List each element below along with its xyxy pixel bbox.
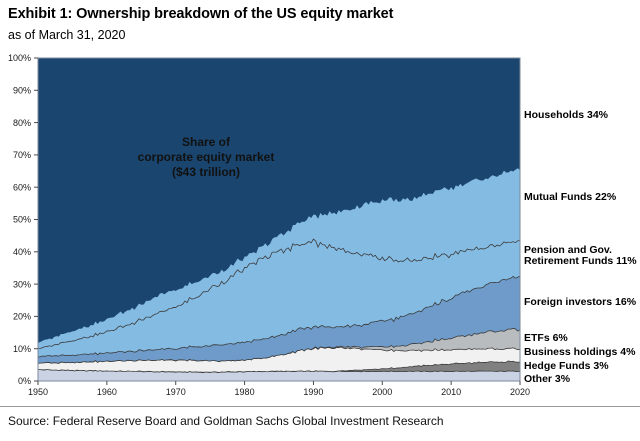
x-tick-label: 2000 <box>372 387 392 397</box>
series-label-pension-line2: Retirement Funds 11% <box>524 256 637 268</box>
source-note: Source: Federal Reserve Board and Goldma… <box>8 414 444 428</box>
series-label-etfs: ETFs 6% <box>524 333 568 345</box>
y-tick-label: 0% <box>18 376 31 386</box>
y-tick-label: 80% <box>13 118 31 128</box>
series-label-business-holdings: Business holdings 4% <box>524 347 635 359</box>
series-label-hedge-funds: Hedge Funds 3% <box>524 361 609 373</box>
x-tick-label: 2020 <box>510 387 530 397</box>
page-subtitle: as of March 31, 2020 <box>8 28 125 42</box>
y-tick-label: 20% <box>13 312 31 322</box>
y-tick-label: 70% <box>13 150 31 160</box>
annotation-line-3: ($43 trillion) <box>96 165 316 180</box>
stacked-area-chart: 0%10%20%30%40%50%60%70%80%90%100%1950196… <box>0 48 640 400</box>
y-tick-label: 30% <box>13 279 31 289</box>
page-title: Exhibit 1: Ownership breakdown of the US… <box>8 6 393 22</box>
series-label-households: Households 34% <box>524 110 608 122</box>
footer-divider <box>0 406 640 407</box>
chart-page: Exhibit 1: Ownership breakdown of the US… <box>0 0 640 441</box>
x-tick-label: 1970 <box>166 387 186 397</box>
x-tick-label: 2010 <box>441 387 461 397</box>
annotation-line-2: corporate equity market <box>96 150 316 165</box>
series-label-other: Other 3% <box>524 374 570 386</box>
y-tick-label: 10% <box>13 344 31 354</box>
y-tick-label: 90% <box>13 86 31 96</box>
annotation-line-1: Share of <box>96 135 316 150</box>
y-tick-label: 50% <box>13 215 31 225</box>
x-tick-label: 1990 <box>303 387 323 397</box>
series-label-mutual-funds: Mutual Funds 22% <box>524 192 616 204</box>
x-tick-label: 1950 <box>28 387 48 397</box>
y-tick-label: 100% <box>8 53 31 63</box>
x-tick-label: 1960 <box>97 387 117 397</box>
x-tick-label: 1980 <box>235 387 255 397</box>
y-tick-label: 40% <box>13 247 31 257</box>
series-label-foreign-investors: Foreign investors 16% <box>524 297 636 309</box>
y-tick-label: 60% <box>13 182 31 192</box>
plot-annotation: Share of corporate equity market ($43 tr… <box>96 135 316 180</box>
